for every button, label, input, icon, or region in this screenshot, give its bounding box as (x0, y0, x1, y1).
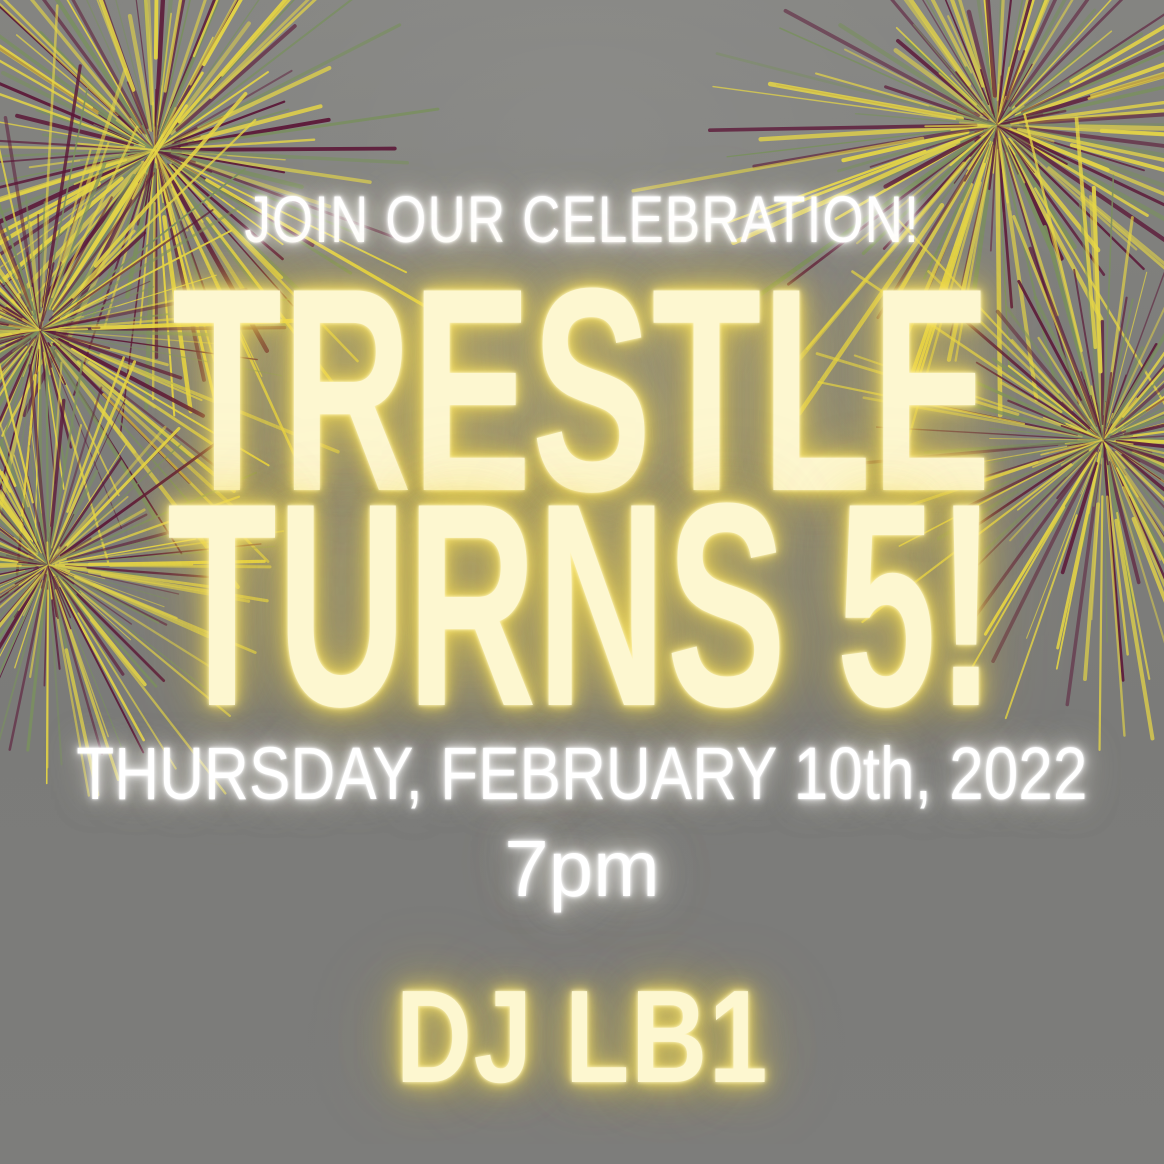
title-line-2: TURNS 5! (167, 481, 996, 730)
performer-name: DJ LB1 (395, 971, 768, 1103)
flyer-text-content: JOIN OUR CELEBRATION! TRESTLE TURNS 5! T… (0, 0, 1164, 1164)
event-flyer: JOIN OUR CELEBRATION! TRESTLE TURNS 5! T… (0, 0, 1164, 1164)
event-date: THURSDAY, FEBRUARY 10th, 2022 (76, 737, 1087, 811)
event-time: 7pm (504, 829, 660, 909)
